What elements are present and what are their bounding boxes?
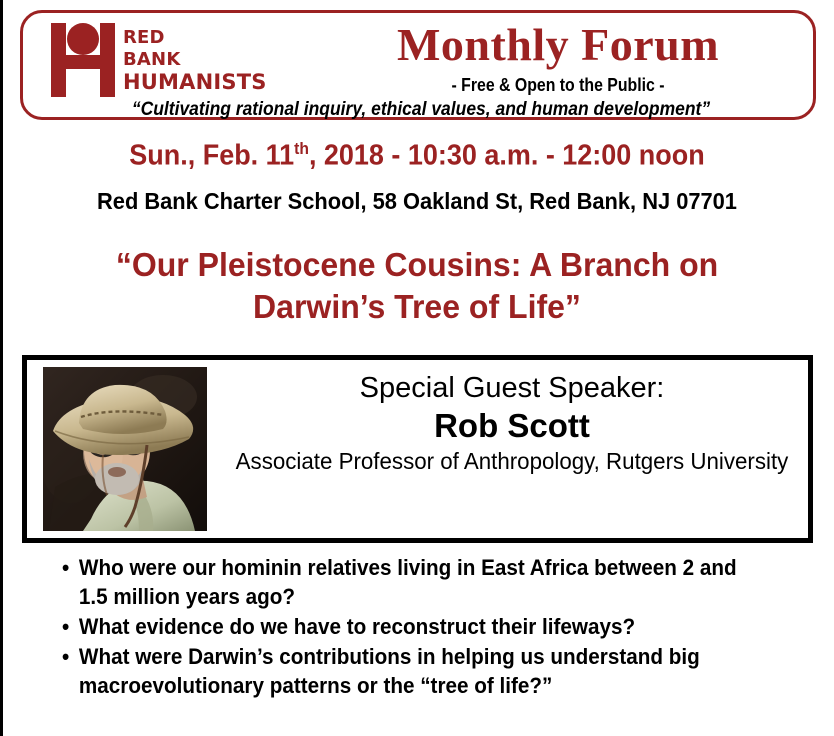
bullet-icon: •: [62, 553, 69, 582]
event-date-ordinal: th: [294, 139, 309, 158]
speaker-affiliation: Associate Professor of Anthropology, Rut…: [232, 446, 793, 476]
list-item: • Who were our hominin relatives living …: [62, 553, 758, 611]
event-venue: Red Bank Charter School, 58 Oakland St, …: [21, 188, 813, 215]
speaker-photo: [43, 367, 207, 531]
list-item-text: What evidence do we have to reconstruct …: [79, 614, 635, 639]
bullet-icon: •: [62, 642, 69, 671]
event-date-suffix: , 2018 - 10:30 a.m. - 12:00 noon: [309, 140, 705, 172]
organization-logo: RED BANK HUMANISTS: [51, 19, 291, 101]
list-item: • What evidence do we have to reconstruc…: [62, 612, 758, 641]
header-banner: RED BANK HUMANISTS Monthly Forum - Free …: [20, 10, 816, 120]
question-list: • Who were our hominin relatives living …: [62, 553, 758, 701]
list-item-text: Who were our hominin relatives living in…: [79, 555, 737, 609]
speaker-details: Special Guest Speaker: Rob Scott Associa…: [223, 370, 801, 476]
logo-line-red: RED: [123, 27, 293, 49]
talk-title-line-1: “Our Pleistocene Cousins: A Branch on: [116, 246, 718, 283]
speaker-role-label: Special Guest Speaker:: [223, 370, 801, 406]
event-date-prefix: Sun., Feb. 11: [129, 140, 294, 172]
speaker-name: Rob Scott: [223, 406, 801, 446]
speaker-box: Special Guest Speaker: Rob Scott Associa…: [22, 355, 813, 543]
talk-title-line-2: Darwin’s Tree of Life”: [253, 288, 581, 325]
organization-name: RED BANK HUMANISTS: [123, 27, 293, 93]
bullet-icon: •: [62, 612, 69, 641]
event-datetime: Sun., Feb. 11th, 2018 - 10:30 a.m. - 12:…: [29, 139, 805, 173]
list-item-text: What were Darwin’s contributions in help…: [79, 644, 700, 698]
forum-title: Monthly Forum: [323, 19, 793, 71]
talk-title: “Our Pleistocene Cousins: A Branch on Da…: [51, 244, 782, 328]
page-left-edge-rule: [0, 0, 3, 736]
logo-line-bank: BANK: [123, 49, 293, 71]
forum-subtitle: - Free & Open to the Public -: [351, 75, 765, 96]
happy-human-h-logo-icon: [51, 23, 115, 97]
list-item: • What were Darwin’s contributions in he…: [62, 642, 758, 700]
logo-line-humanists: HUMANISTS: [123, 71, 293, 93]
forum-tagline: “Cultivating rational inquiry, ethical v…: [64, 99, 778, 121]
